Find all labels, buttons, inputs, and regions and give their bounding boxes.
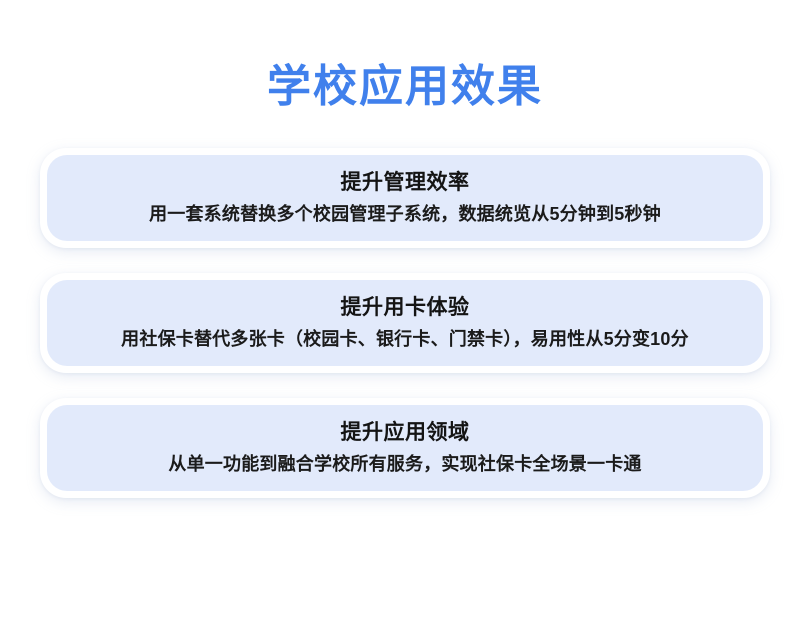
benefit-card-description: 从单一功能到融合学校所有服务，实现社保卡全场景一卡通 xyxy=(168,450,641,478)
benefit-card-body: 提升应用领域 从单一功能到融合学校所有服务，实现社保卡全场景一卡通 xyxy=(47,405,763,491)
benefit-card-1: 提升管理效率 用一套系统替换多个校园管理子系统，数据统览从5分钟到5秒钟 xyxy=(40,148,770,248)
benefit-card-body: 提升用卡体验 用社保卡替代多张卡（校园卡、银行卡、门禁卡），易用性从5分变10分 xyxy=(47,280,763,366)
effect-summary-page: 学校应用效果 提升管理效率 用一套系统替换多个校园管理子系统，数据统览从5分钟到… xyxy=(0,0,810,622)
benefit-card-heading: 提升用卡体验 xyxy=(341,293,470,323)
benefit-card-description: 用一套系统替换多个校园管理子系统，数据统览从5分钟到5秒钟 xyxy=(149,200,661,228)
benefit-card-body: 提升管理效率 用一套系统替换多个校园管理子系统，数据统览从5分钟到5秒钟 xyxy=(47,155,763,241)
benefit-card-description: 用社保卡替代多张卡（校园卡、银行卡、门禁卡），易用性从5分变10分 xyxy=(121,325,689,353)
benefit-card-heading: 提升应用领域 xyxy=(341,418,470,448)
page-title: 学校应用效果 xyxy=(0,58,810,116)
benefit-card-2: 提升用卡体验 用社保卡替代多张卡（校园卡、银行卡、门禁卡），易用性从5分变10分 xyxy=(40,273,770,373)
benefit-card-heading: 提升管理效率 xyxy=(341,168,470,198)
benefit-card-3: 提升应用领域 从单一功能到融合学校所有服务，实现社保卡全场景一卡通 xyxy=(40,398,770,498)
benefit-card-list: 提升管理效率 用一套系统替换多个校园管理子系统，数据统览从5分钟到5秒钟 提升用… xyxy=(0,148,810,523)
